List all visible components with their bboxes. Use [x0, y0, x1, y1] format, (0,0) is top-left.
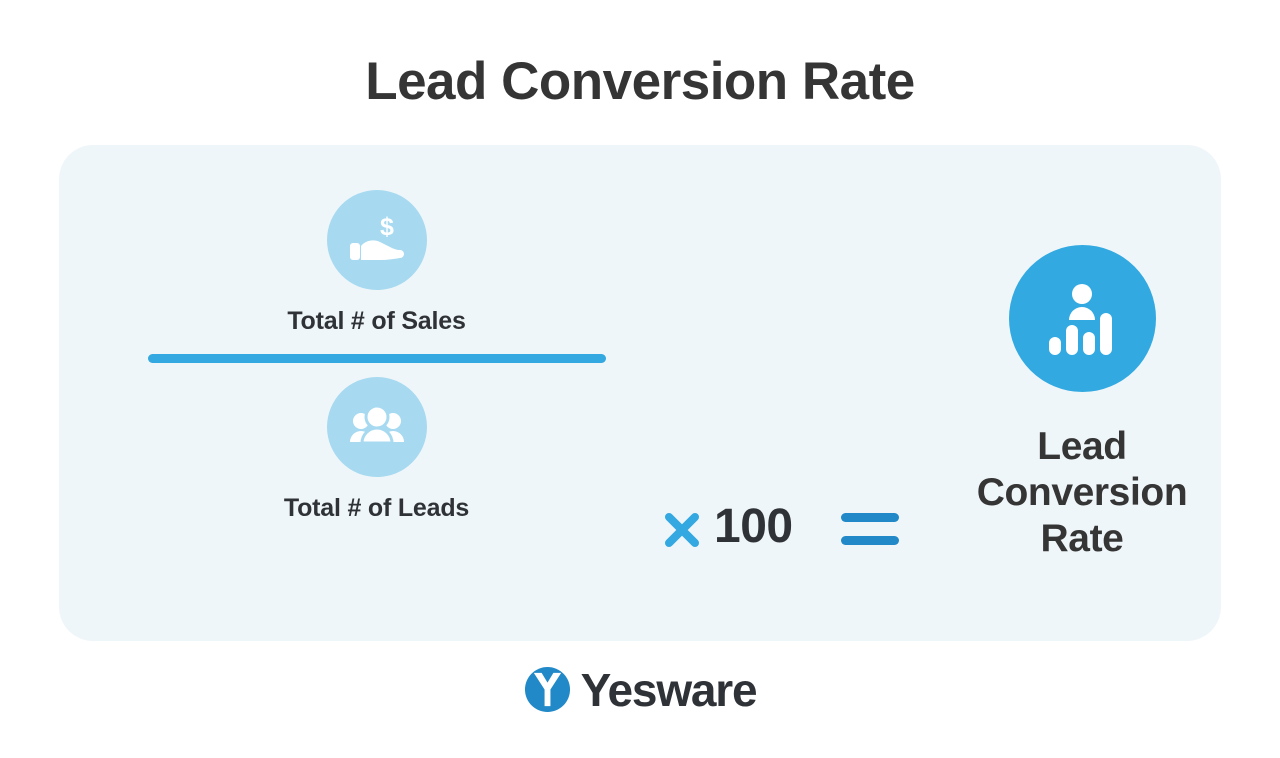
- fraction: $ Total # of Sales: [118, 190, 635, 523]
- hand-holding-dollar-icon: $: [327, 190, 427, 290]
- brand-name: Yesware: [581, 667, 757, 713]
- fraction-numerator: $ Total # of Sales: [118, 190, 635, 336]
- numerator-label: Total # of Sales: [287, 307, 465, 336]
- result-block: Lead Conversion Rate: [947, 245, 1217, 562]
- page-title: Lead Conversion Rate: [0, 52, 1280, 113]
- equals-bar-top: [841, 513, 899, 522]
- person-bar-chart-icon: [1009, 245, 1156, 392]
- yesware-logo-mark: [524, 666, 571, 713]
- equals-icon: [841, 513, 899, 545]
- formula-panel: $ Total # of Sales: [59, 145, 1221, 641]
- fraction-denominator: Total # of Leads: [118, 377, 635, 523]
- denominator-label: Total # of Leads: [284, 494, 469, 523]
- svg-text:$: $: [380, 213, 394, 241]
- result-label: Lead Conversion Rate: [947, 424, 1217, 562]
- fraction-divider: [148, 354, 606, 363]
- brand-logo: Yesware: [0, 666, 1280, 713]
- multiplier-value: 100: [714, 503, 793, 551]
- equals-bar-bottom: [841, 536, 899, 545]
- multiply-icon: [662, 510, 702, 550]
- people-group-icon: [327, 377, 427, 477]
- lead-conversion-rate-infographic: Lead Conversion Rate $ Total # of Sales: [0, 0, 1280, 758]
